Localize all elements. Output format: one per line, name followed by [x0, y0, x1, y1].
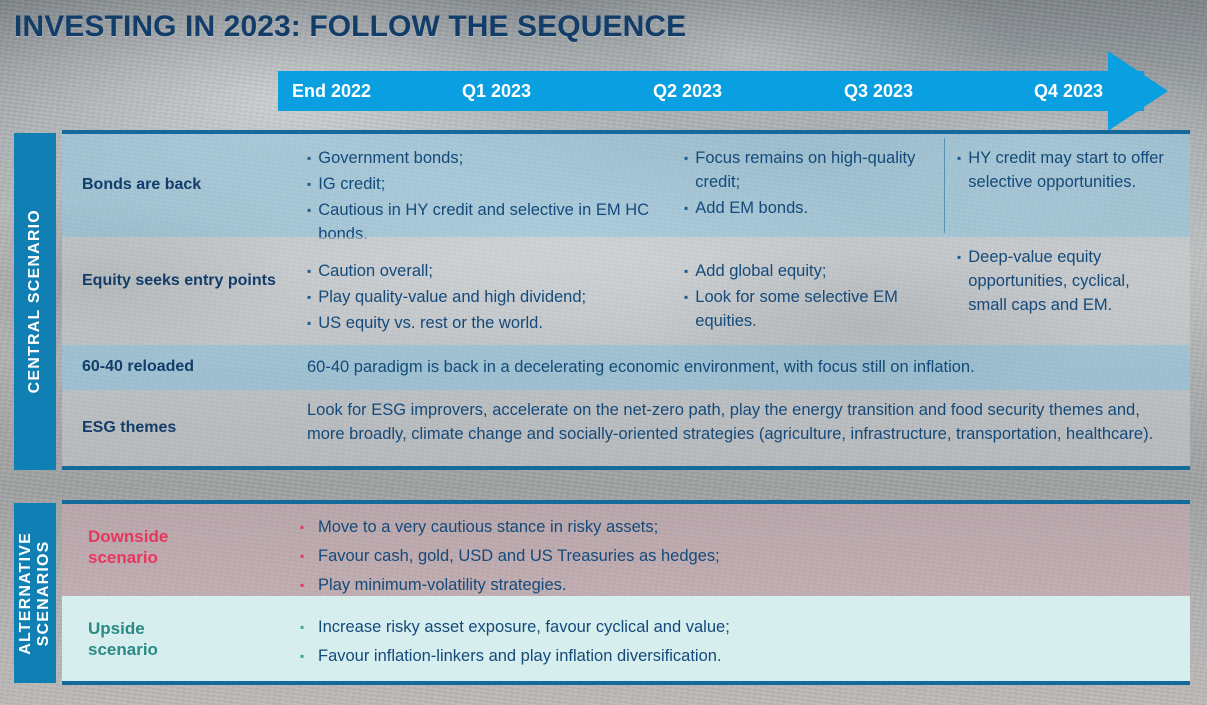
cell-equity-q2: ▪Add global equity; ▪Look for some selec…: [684, 237, 929, 345]
bullet-item: ▪Government bonds;: [307, 146, 657, 170]
bullet-item: ▪Add global equity;: [684, 259, 929, 283]
row-label-bonds: Bonds are back: [82, 176, 201, 194]
bullet-square-icon: ▪: [300, 615, 318, 640]
cell-bonds-q4: ▪HY credit may start to offer selective …: [957, 134, 1172, 237]
table-row: Bonds are back ▪Government bonds; ▪IG cr…: [62, 134, 1190, 237]
alternative-scenarios-tab-label: ALTERNATIVESCENARIOS: [17, 532, 54, 655]
bullet-square-icon: ▪: [300, 515, 318, 540]
bullet-item: ▪Add EM bonds.: [684, 196, 924, 220]
alternative-scenarios-tab: ALTERNATIVESCENARIOS: [14, 503, 56, 683]
alt-bottom-rule: [62, 681, 1190, 685]
bullet-square-icon: ▪: [300, 573, 318, 598]
bullet-square-icon: ▪: [684, 146, 688, 194]
cell-6040-text: 60-40 paradigm is back in a decelerating…: [307, 345, 1167, 390]
bullet-item: ▪Increase risky asset exposure, favour c…: [300, 615, 1100, 640]
alt-tab-line1: ALTERNATIVE: [17, 532, 34, 655]
bullet-square-icon: ▪: [684, 285, 688, 333]
bullet-item: ▪Favour inflation-linkers and play infla…: [300, 644, 1100, 669]
bullet-square-icon: ▪: [684, 259, 688, 283]
downside-label: Downsidescenario: [88, 526, 168, 569]
table-row: 60-40 reloaded 60-40 paradigm is back in…: [62, 345, 1190, 390]
timeline-label-q4-2023: Q4 2023: [1034, 71, 1103, 111]
timeline-label-q1-2023: Q1 2023: [462, 71, 531, 111]
downside-label-line1: Downside: [88, 527, 168, 546]
bullet-square-icon: ▪: [300, 544, 318, 569]
bullet-item: ▪Caution overall;: [307, 259, 667, 283]
timeline-label-q2-2023: Q2 2023: [653, 71, 722, 111]
upside-scenario-row: Upsidescenario ▪Increase risky asset exp…: [62, 596, 1190, 681]
central-bottom-rule: [62, 466, 1190, 470]
central-scenario-table: Bonds are back ▪Government bonds; ▪IG cr…: [62, 130, 1190, 470]
bullet-square-icon: ▪: [307, 285, 311, 309]
downside-scenario-row: Downsidescenario ▪Move to a very cautiou…: [62, 504, 1190, 596]
timeline-label-end-2022: End 2022: [292, 71, 371, 111]
upside-label-line2: scenario: [88, 640, 158, 659]
cell-esg-text: Look for ESG improvers, accelerate on th…: [307, 390, 1177, 466]
row1-divider: [944, 138, 945, 233]
bullet-square-icon: ▪: [307, 146, 311, 170]
bullet-item: ▪HY credit may start to offer selective …: [957, 146, 1172, 194]
central-scenario-tab: CENTRAL SCENARIO: [14, 133, 56, 470]
page-title: INVESTING IN 2023: FOLLOW THE SEQUENCE: [14, 10, 686, 44]
arrow-head-icon: [1108, 51, 1168, 131]
bullet-square-icon: ▪: [307, 311, 311, 335]
cell-equity-q4: ▪Deep-value equity opportunities, cyclic…: [957, 237, 1172, 345]
bullet-item: ▪Focus remains on high-quality credit;: [684, 146, 924, 194]
bullet-item: ▪US equity vs. rest or the world.: [307, 311, 667, 335]
bullet-item: ▪IG credit;: [307, 172, 657, 196]
bullet-item: ▪Deep-value equity opportunities, cyclic…: [957, 245, 1172, 317]
upside-bullets: ▪Increase risky asset exposure, favour c…: [300, 596, 1100, 681]
bullet-square-icon: ▪: [684, 196, 688, 220]
table-row: Equity seeks entry points ▪Caution overa…: [62, 237, 1190, 345]
bullet-square-icon: ▪: [307, 172, 311, 196]
timeline-arrow: End 2022 Q1 2023 Q2 2023 Q3 2023 Q4 2023: [278, 71, 1190, 111]
bullet-square-icon: ▪: [300, 644, 318, 669]
bullet-square-icon: ▪: [957, 245, 961, 317]
bullet-item: ▪Look for some selective EM equities.: [684, 285, 929, 333]
timeline-label-q3-2023: Q3 2023: [844, 71, 913, 111]
upside-label-line1: Upside: [88, 619, 145, 638]
bullet-item: ▪Play minimum-volatility strategies.: [300, 573, 1080, 598]
downside-label-line2: scenario: [88, 548, 158, 567]
bullet-item: ▪Move to a very cautious stance in risky…: [300, 515, 1080, 540]
bullet-square-icon: ▪: [957, 146, 961, 194]
row-label-esg: ESG themes: [82, 419, 176, 437]
cell-bonds-q2: ▪Focus remains on high-quality credit; ▪…: [684, 134, 924, 237]
upside-label: Upsidescenario: [88, 618, 158, 661]
table-row: ESG themes Look for ESG improvers, accel…: [62, 390, 1190, 466]
bullet-item: ▪Play quality-value and high dividend;: [307, 285, 667, 309]
bullet-item: ▪Favour cash, gold, USD and US Treasurie…: [300, 544, 1080, 569]
alt-tab-line2: SCENARIOS: [35, 540, 52, 646]
alternative-scenarios-table: Downsidescenario ▪Move to a very cautiou…: [62, 500, 1190, 686]
cell-bonds-q1: ▪Government bonds; ▪IG credit; ▪Cautious…: [307, 134, 657, 237]
downside-bullets: ▪Move to a very cautious stance in risky…: [300, 504, 1080, 596]
central-scenario-tab-label: CENTRAL SCENARIO: [26, 209, 44, 393]
bullet-square-icon: ▪: [307, 259, 311, 283]
cell-equity-q1: ▪Caution overall; ▪Play quality-value an…: [307, 237, 667, 345]
row-label-6040: 60-40 reloaded: [82, 358, 194, 376]
row-label-equity: Equity seeks entry points: [82, 272, 282, 290]
